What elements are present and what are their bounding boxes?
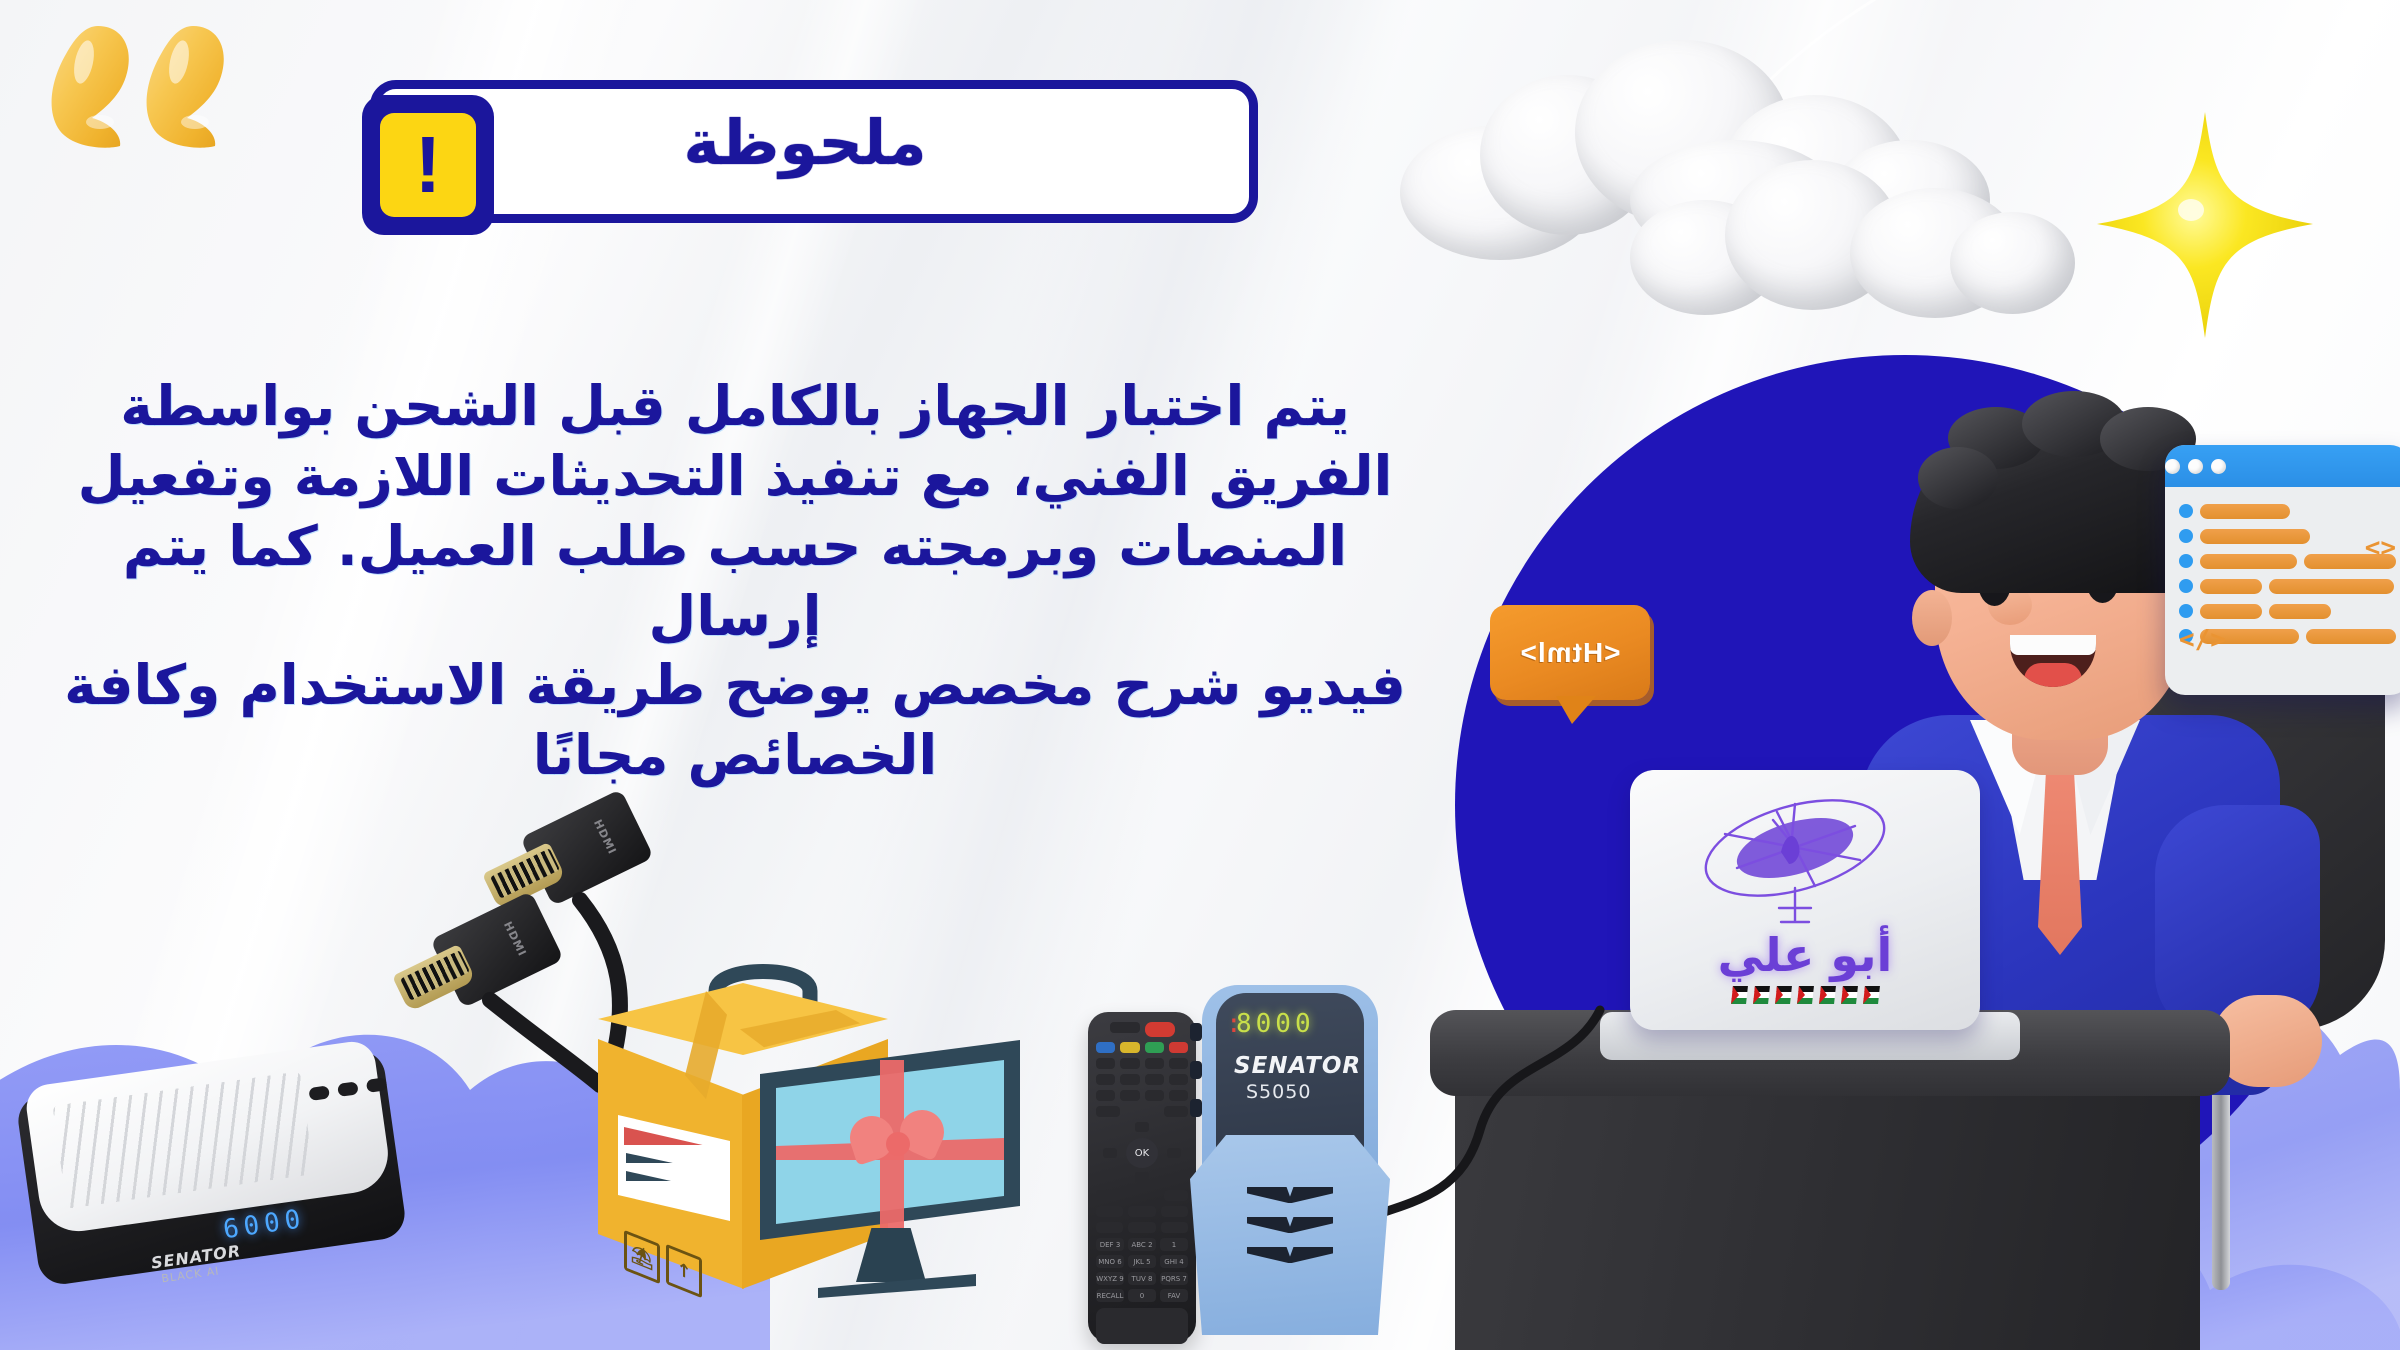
- receiver-blue-side-button[interactable]: [1190, 1061, 1202, 1079]
- code-line: [2179, 603, 2396, 619]
- code-window-titlebar: [2165, 445, 2400, 487]
- receiver-blue-display: 8000: [1236, 1009, 1315, 1039]
- remote-key[interactable]: 1: [1160, 1238, 1188, 1251]
- satellite-receiver-blue: : 8000 SENATOR S5050: [1190, 985, 1390, 1345]
- flag-icon: [1731, 986, 1748, 1004]
- remote-key[interactable]: 3 DEF: [1096, 1238, 1124, 1251]
- remote-row-media3[interactable]: [1096, 1222, 1188, 1233]
- tv-stand: [856, 1228, 926, 1282]
- remote-fn-button: [1096, 1058, 1115, 1069]
- window-dot-icon-1: [2211, 459, 2226, 474]
- code-bracket-close-icon: </>: [2179, 625, 2226, 655]
- remote-red-button[interactable]: [1169, 1042, 1188, 1053]
- gift-bow-icon: [856, 1110, 940, 1176]
- flag-icon: [1819, 986, 1836, 1004]
- remote-row-rds-exit[interactable]: [1096, 1106, 1188, 1117]
- remote-stop-button: [1120, 1090, 1139, 1101]
- desk-body: [1455, 1072, 2200, 1350]
- remote-fn-button: [1096, 1074, 1115, 1085]
- remote-row-fn2[interactable]: [1096, 1074, 1188, 1085]
- body-line: فيديو شرح مخصص يوضح طريقة الاستخدام وكاف…: [30, 651, 1440, 721]
- remote-mute-button[interactable]: [1110, 1022, 1140, 1033]
- remote-fn-button: [1145, 1058, 1164, 1069]
- flag-icon: [1863, 986, 1880, 1004]
- receiver-blue-brand: SENATOR: [1234, 1053, 1361, 1079]
- remote-info-button: [1096, 1190, 1120, 1201]
- remote-row-fn1[interactable]: [1096, 1058, 1188, 1069]
- remote-rds-button: [1164, 1106, 1188, 1117]
- remote-ok-button[interactable]: OK: [1126, 1138, 1158, 1168]
- receiver-button[interactable]: [308, 1085, 330, 1101]
- code-line: [2179, 578, 2396, 594]
- receiver-blue-model: S5050: [1246, 1081, 1311, 1103]
- remote-green-button[interactable]: [1145, 1042, 1164, 1053]
- sparkle-star-icon: [2095, 110, 2315, 340]
- remote-record-button: [1096, 1090, 1115, 1101]
- remote-key[interactable]: RECALL: [1096, 1289, 1124, 1302]
- code-editor-window: <> </>: [2165, 445, 2400, 695]
- window-dot-icon-2: [2188, 459, 2203, 474]
- code-bullet-icon: [2179, 554, 2193, 568]
- vent-chevron-icon: [1247, 1217, 1333, 1233]
- tv-gift: [760, 1030, 1060, 1330]
- remote-fn-button: [1169, 1058, 1188, 1069]
- remote-bottom-panel: [1096, 1308, 1188, 1344]
- laptop-logo: أبو علي: [1655, 790, 1955, 1010]
- receiver-blue-stand: [1190, 1135, 1390, 1335]
- code-bracket-open-icon: <>: [2365, 533, 2396, 563]
- remote-power-button[interactable]: [1145, 1022, 1175, 1037]
- quote-mark-icon-1: [48, 22, 134, 150]
- remote-key[interactable]: 8 TUV: [1128, 1272, 1156, 1285]
- remote-rew-button: [1096, 1206, 1123, 1217]
- code-line: [2179, 553, 2396, 569]
- vent-chevron-icon: [1247, 1247, 1333, 1263]
- remote-next-button: [1161, 1222, 1188, 1233]
- remote-key[interactable]: FAV: [1160, 1289, 1188, 1302]
- receiver-blue-side-button[interactable]: [1190, 1099, 1202, 1117]
- remote-sat-button: [1128, 1222, 1155, 1233]
- receiver-blue-side-button[interactable]: [1190, 1023, 1202, 1041]
- remote-exit-button: [1096, 1106, 1120, 1117]
- remote-key[interactable]: 7 PQRS: [1160, 1272, 1188, 1285]
- exclamation-badge-inner: !: [380, 113, 476, 217]
- vent-chevron-icon: [1247, 1187, 1333, 1203]
- remote-row-color[interactable]: [1096, 1042, 1188, 1053]
- flag-icon: [1775, 986, 1792, 1004]
- quote-mark-icon-2: [143, 22, 229, 150]
- remote-usb-button: [1128, 1206, 1155, 1217]
- body-line: المنصات وبرمجته حسب طلب العميل. كما يتم …: [30, 512, 1440, 652]
- receiver-button[interactable]: [366, 1077, 388, 1093]
- html-speech-bubble: <Html>: [1490, 605, 1650, 700]
- remote-dpad[interactable]: OK: [1103, 1122, 1181, 1184]
- body-line: يتم اختبار الجهاز بالكامل قبل الشحن بواس…: [30, 372, 1440, 442]
- body-line: الفريق الفني، مع تنفيذ التحديثات اللازمة…: [30, 442, 1440, 512]
- remote-pause-button: [1145, 1090, 1164, 1101]
- exclamation-badge: !: [362, 95, 494, 235]
- remote-left-button[interactable]: [1103, 1148, 1117, 1158]
- html-bubble-label: <Html>: [1490, 605, 1650, 700]
- remote-control[interactable]: OK 1 2 ABC 3 DEF 4 GHI 5 JKL 6 MNO 7 PQR…: [1088, 1012, 1196, 1342]
- remote-row-media[interactable]: [1096, 1090, 1188, 1101]
- remote-ff-button: [1096, 1222, 1123, 1233]
- flag-icon: [1797, 986, 1814, 1004]
- remote-fn-button: [1120, 1058, 1139, 1069]
- code-line: [2179, 503, 2396, 519]
- remote-down-button[interactable]: [1135, 1172, 1149, 1182]
- remote-blue-button[interactable]: [1096, 1042, 1115, 1053]
- code-bullet-icon: [2179, 529, 2193, 543]
- remote-key[interactable]: 6 MNO: [1096, 1255, 1124, 1268]
- body-line: الخصائص مجانًا: [30, 721, 1440, 791]
- cloud-icon-2: [1630, 150, 2080, 320]
- code-window-body: <> </>: [2165, 487, 2400, 663]
- laptop-logo-name: أبو علي: [1655, 928, 1955, 982]
- remote-row-epg-info[interactable]: [1096, 1190, 1188, 1201]
- code-bullet-icon: [2179, 504, 2193, 518]
- remote-prev-button: [1161, 1206, 1188, 1217]
- remote-play-button: [1169, 1090, 1188, 1101]
- exclamation-icon: !: [380, 115, 476, 215]
- remote-key[interactable]: 4 GHI: [1160, 1255, 1188, 1268]
- flag-icon: [1753, 986, 1770, 1004]
- window-dot-icon-3: [2165, 459, 2180, 474]
- remote-fn-button: [1120, 1074, 1139, 1085]
- receiver-button[interactable]: [337, 1081, 359, 1097]
- flag-icon: [1841, 986, 1858, 1004]
- remote-row-power[interactable]: [1096, 1022, 1188, 1037]
- remote-key[interactable]: 9 WXYZ: [1096, 1272, 1124, 1285]
- remote-up-button[interactable]: [1135, 1122, 1149, 1132]
- remote-row-media2[interactable]: [1096, 1206, 1188, 1217]
- code-bullet-icon: [2179, 604, 2193, 618]
- quote-marks: [48, 22, 258, 157]
- remote-right-button[interactable]: [1167, 1148, 1181, 1158]
- remote-keypad[interactable]: 1 2 ABC 3 DEF 4 GHI 5 JKL 6 MNO 7 PQRS 8…: [1096, 1238, 1188, 1302]
- remote-fn-button: [1169, 1074, 1188, 1085]
- remote-fn-button: [1145, 1074, 1164, 1085]
- remote-key[interactable]: 0: [1128, 1289, 1156, 1302]
- character-ear: [1912, 590, 1952, 646]
- page-title: ملحوظة: [370, 80, 1240, 205]
- code-line: [2179, 528, 2396, 544]
- remote-yellow-button[interactable]: [1120, 1042, 1139, 1053]
- code-bullet-icon: [2179, 579, 2193, 593]
- body-paragraph: يتم اختبار الجهاز بالكامل قبل الشحن بواس…: [30, 372, 1440, 791]
- promo-banner: ملحوظة ! يتم اختبار الجهاز بالكامل قبل ا…: [0, 0, 2400, 1350]
- satellite-dish-icon: [1655, 790, 1955, 940]
- remote-key[interactable]: 5 JKL: [1128, 1255, 1156, 1268]
- flag-row: [1713, 986, 1898, 1006]
- remote-key[interactable]: 2 ABC: [1128, 1238, 1156, 1251]
- character-hair-swirl-4: [1918, 447, 1998, 509]
- speech-bubble-tail-icon: [1556, 696, 1596, 724]
- remote-epg-button: [1164, 1190, 1188, 1201]
